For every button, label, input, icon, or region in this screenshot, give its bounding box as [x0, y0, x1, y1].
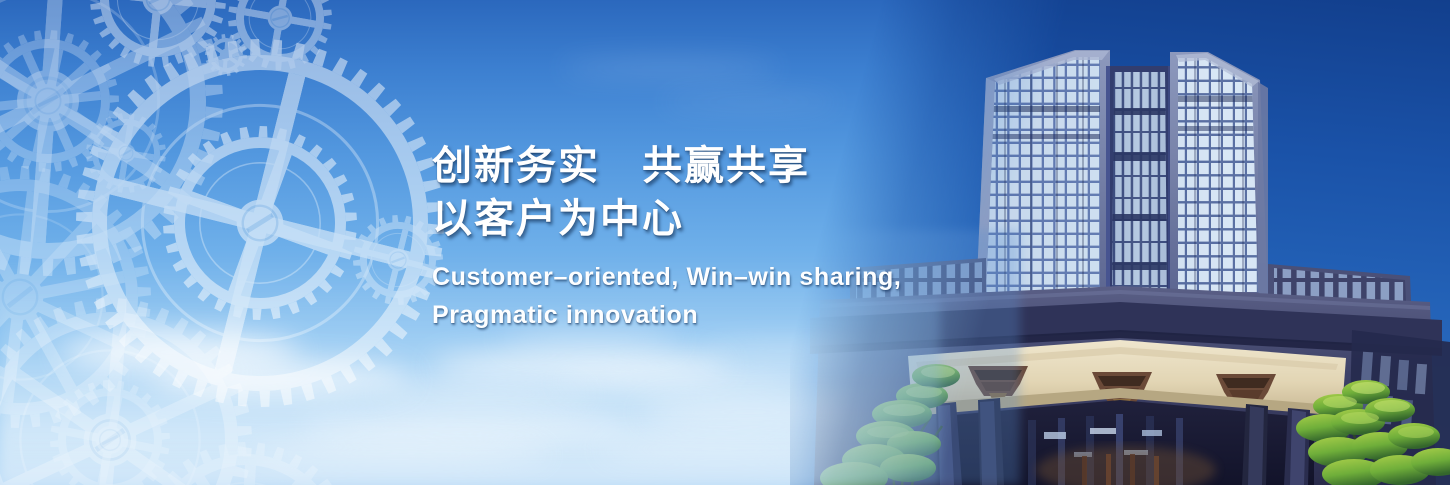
- gear-cluster-icon: [0, 250, 430, 485]
- headline-cn-line-2: 以客户为中心: [432, 193, 952, 246]
- hero-banner: 创新务实 共赢共享 以客户为中心 Customer–oriented, Win–…: [0, 0, 1450, 485]
- headline-block: 创新务实 共赢共享 以客户为中心 Customer–oriented, Win–…: [432, 140, 952, 334]
- headline-en-line-1: Customer–oriented, Win–win sharing,: [432, 258, 952, 296]
- headline-en-line-2: Pragmatic innovation: [432, 296, 952, 334]
- headline-cn-line-1: 创新务实 共赢共享: [432, 140, 952, 193]
